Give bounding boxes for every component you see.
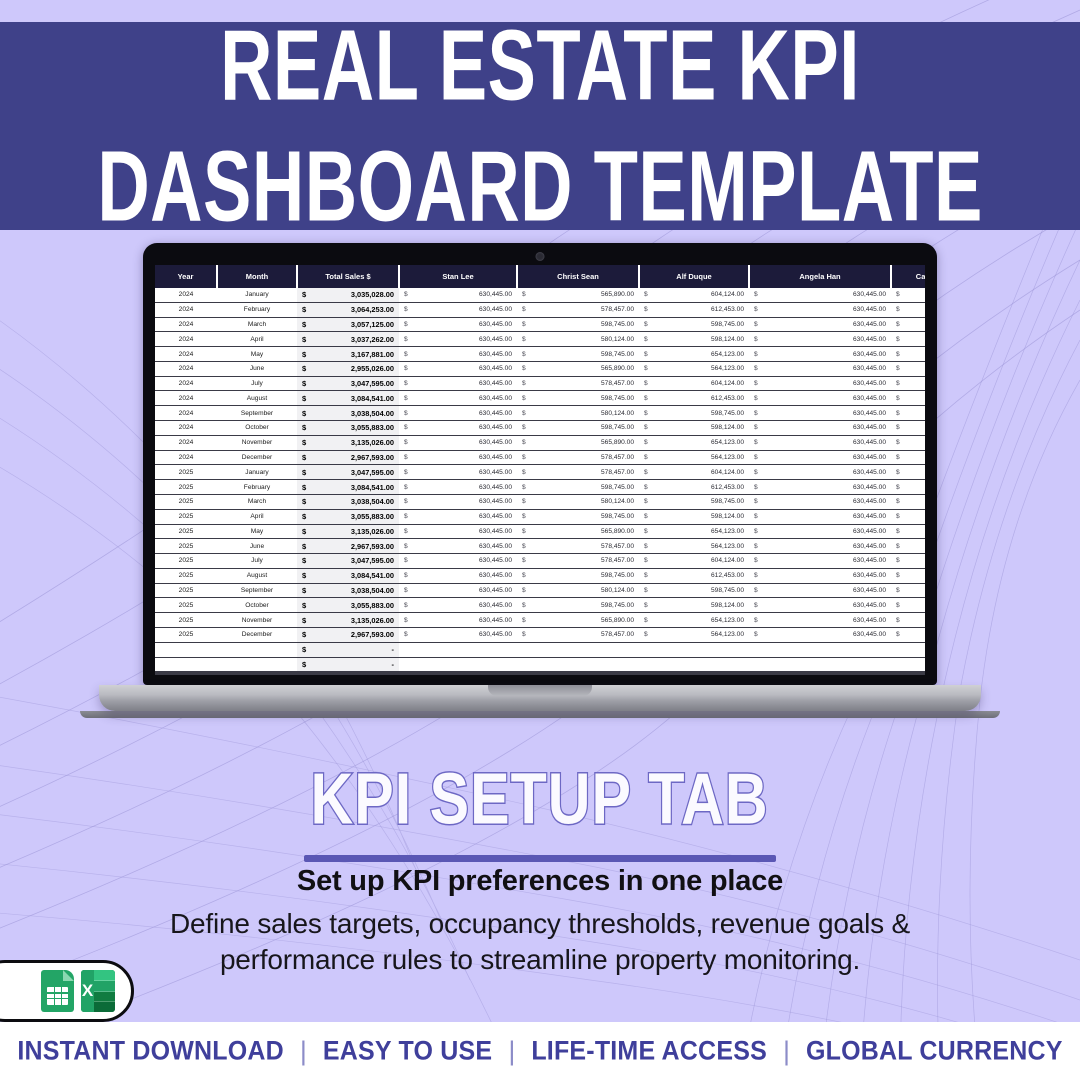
cell-christ-sean[interactable]: $580,124.00 [517, 494, 639, 509]
cell-carez[interactable] [891, 642, 925, 657]
cell-angela-han[interactable]: $630,445.00 [749, 361, 891, 376]
cell-month[interactable]: May [217, 347, 297, 362]
table-row[interactable]: 2025April$3,055,883.00$630,445.00$598,74… [155, 509, 925, 524]
cell-christ-sean[interactable]: $580,124.00 [517, 406, 639, 421]
table-row[interactable]: 2025September$3,038,504.00$630,445.00$58… [155, 583, 925, 598]
footer-separator-2: | [508, 1036, 515, 1067]
app-compatibility-badge: X [0, 960, 134, 1022]
cell-total-sales[interactable]: $3,135,026.00 [297, 435, 399, 450]
table-row[interactable]: 2025October$3,055,883.00$630,445.00$598,… [155, 598, 925, 613]
table-header-row: Year Month Total Sales $ Stan Lee Christ… [155, 265, 925, 288]
cell-stan-lee[interactable]: $630,445.00 [399, 302, 517, 317]
cell-carez[interactable]: $ [891, 583, 925, 598]
sheets-grid-glyph [47, 987, 68, 1005]
cell-carez[interactable]: $ [891, 421, 925, 436]
cell-carez[interactable]: $ [891, 361, 925, 376]
cell-stan-lee[interactable]: $630,445.00 [399, 288, 517, 302]
table-row[interactable]: 2024December$2,967,593.00$630,445.00$578… [155, 450, 925, 465]
cell-christ-sean[interactable]: $578,457.00 [517, 554, 639, 569]
cell-month[interactable]: April [217, 509, 297, 524]
cell-alf-duque[interactable]: $598,124.00 [639, 509, 749, 524]
cell-month[interactable]: November [217, 613, 297, 628]
cell-carez[interactable]: $ [891, 539, 925, 554]
microsoft-excel-icon: X [81, 970, 115, 1012]
cell-total-sales[interactable]: $3,055,883.00 [297, 421, 399, 436]
table-row[interactable]: 2024July$3,047,595.00$630,445.00$578,457… [155, 376, 925, 391]
laptop-notch [488, 685, 592, 696]
cell-stan-lee[interactable] [399, 642, 517, 657]
cell-angela-han[interactable]: $630,445.00 [749, 509, 891, 524]
cell-angela-han[interactable]: $630,445.00 [749, 583, 891, 598]
cell-year[interactable]: 2024 [155, 288, 217, 302]
cell-carez[interactable]: $ [891, 288, 925, 302]
laptop-mockup: Year Month Total Sales $ Stan Lee Christ… [143, 243, 937, 718]
footer-bar: INSTANT DOWNLOAD | EASY TO USE | LIFE-TI… [0, 1022, 1080, 1080]
cell-christ-sean[interactable]: $598,745.00 [517, 480, 639, 495]
cell-total-sales[interactable]: $3,047,595.00 [297, 376, 399, 391]
cell-christ-sean[interactable]: $565,890.00 [517, 361, 639, 376]
cell-alf-duque[interactable]: $612,453.00 [639, 302, 749, 317]
cell-angela-han[interactable]: $630,445.00 [749, 627, 891, 642]
cell-year[interactable]: 2025 [155, 598, 217, 613]
cell-total-sales[interactable]: $3,047,595.00 [297, 554, 399, 569]
cell-carez[interactable]: $ [891, 568, 925, 583]
cell-stan-lee[interactable]: $630,445.00 [399, 450, 517, 465]
cell-year[interactable]: 2025 [155, 554, 217, 569]
cell-angela-han[interactable]: $630,445.00 [749, 391, 891, 406]
cell-total-sales[interactable]: $3,135,026.00 [297, 613, 399, 628]
cell-total-sales[interactable]: $- [297, 657, 399, 672]
cell-year[interactable]: 2025 [155, 494, 217, 509]
cell-total-sales[interactable]: $3,038,504.00 [297, 406, 399, 421]
webcam-icon [536, 252, 545, 261]
cell-month[interactable]: December [217, 450, 297, 465]
cell-carez[interactable]: $ [891, 480, 925, 495]
cell-year[interactable]: 2024 [155, 435, 217, 450]
cell-alf-duque[interactable]: $598,124.00 [639, 332, 749, 347]
cell-carez[interactable]: $ [891, 347, 925, 362]
cell-angela-han[interactable]: $630,445.00 [749, 465, 891, 480]
cell-total-sales[interactable]: $3,035,028.00 [297, 288, 399, 302]
cell-carez[interactable]: $ [891, 554, 925, 569]
cell-christ-sean[interactable]: $565,890.00 [517, 524, 639, 539]
cell-stan-lee[interactable]: $630,445.00 [399, 465, 517, 480]
cell-year[interactable] [155, 657, 217, 672]
cell-alf-duque[interactable]: $598,124.00 [639, 598, 749, 613]
cell-stan-lee[interactable]: $630,445.00 [399, 391, 517, 406]
cell-year[interactable]: 2024 [155, 347, 217, 362]
cell-carez[interactable]: $ [891, 376, 925, 391]
table-row[interactable]: 2025November$3,135,026.00$630,445.00$565… [155, 613, 925, 628]
cell-alf-duque[interactable]: $564,123.00 [639, 627, 749, 642]
cell-angela-han[interactable]: $630,445.00 [749, 450, 891, 465]
cell-total-sales[interactable]: $2,955,026.00 [297, 361, 399, 376]
cell-month[interactable]: March [217, 494, 297, 509]
cell-carez[interactable]: $ [891, 302, 925, 317]
table-row[interactable]: 2024March$3,057,125.00$630,445.00$598,74… [155, 317, 925, 332]
cell-total-sales[interactable]: $3,167,881.00 [297, 347, 399, 362]
cell-alf-duque[interactable] [639, 657, 749, 672]
cell-carez[interactable] [891, 657, 925, 672]
table-row[interactable]: 2024February$3,064,253.00$630,445.00$578… [155, 302, 925, 317]
cell-month[interactable]: March [217, 317, 297, 332]
cell-carez[interactable]: $ [891, 509, 925, 524]
cell-year[interactable]: 2024 [155, 302, 217, 317]
cell-carez[interactable]: $ [891, 598, 925, 613]
cell-stan-lee[interactable]: $630,445.00 [399, 361, 517, 376]
column-header-total-sales[interactable]: Total Sales $ [297, 265, 399, 288]
cell-christ-sean[interactable]: $578,457.00 [517, 302, 639, 317]
column-header-stan-lee[interactable]: Stan Lee [399, 265, 517, 288]
cell-stan-lee[interactable]: $630,445.00 [399, 627, 517, 642]
feature-title-underline [304, 855, 776, 862]
cell-angela-han[interactable]: $630,445.00 [749, 347, 891, 362]
laptop-lid: Year Month Total Sales $ Stan Lee Christ… [143, 243, 937, 685]
cell-christ-sean[interactable]: $580,124.00 [517, 332, 639, 347]
cell-month[interactable] [217, 642, 297, 657]
header-banner: REAL ESTATE KPI DASHBOARD TEMPLATE [0, 22, 1080, 230]
cell-christ-sean[interactable]: $578,457.00 [517, 539, 639, 554]
cell-alf-duque[interactable]: $604,124.00 [639, 288, 749, 302]
cell-christ-sean[interactable]: $598,745.00 [517, 317, 639, 332]
cell-christ-sean[interactable]: $565,890.00 [517, 613, 639, 628]
cell-month[interactable]: January [217, 288, 297, 302]
cell-alf-duque[interactable]: $604,124.00 [639, 554, 749, 569]
excel-bars [94, 970, 115, 1012]
cell-alf-duque[interactable]: $598,124.00 [639, 421, 749, 436]
cell-angela-han[interactable]: $630,445.00 [749, 598, 891, 613]
cell-total-sales[interactable]: $3,055,883.00 [297, 509, 399, 524]
table-row[interactable]: 2024April$3,037,262.00$630,445.00$580,12… [155, 332, 925, 347]
spreadsheet-table[interactable]: Year Month Total Sales $ Stan Lee Christ… [155, 265, 925, 672]
cell-christ-sean[interactable]: $565,890.00 [517, 435, 639, 450]
cell-angela-han[interactable]: $630,445.00 [749, 302, 891, 317]
cell-stan-lee[interactable]: $630,445.00 [399, 524, 517, 539]
cell-christ-sean[interactable]: $565,890.00 [517, 288, 639, 302]
cell-stan-lee[interactable]: $630,445.00 [399, 406, 517, 421]
cell-angela-han[interactable]: $630,445.00 [749, 568, 891, 583]
feature-description: Define sales targets, occupancy threshol… [0, 906, 1080, 979]
footer-separator-1: | [300, 1036, 307, 1067]
cell-alf-duque[interactable]: $598,745.00 [639, 494, 749, 509]
cell-stan-lee[interactable]: $630,445.00 [399, 554, 517, 569]
cell-total-sales[interactable]: $3,135,026.00 [297, 524, 399, 539]
cell-month[interactable]: May [217, 524, 297, 539]
footer-item-global-currency: GLOBAL CURRENCY [790, 1035, 1079, 1066]
cell-christ-sean[interactable]: $598,745.00 [517, 347, 639, 362]
cell-year[interactable]: 2024 [155, 332, 217, 347]
cell-alf-duque[interactable]: $612,453.00 [639, 480, 749, 495]
cell-carez[interactable]: $ [891, 332, 925, 347]
cell-alf-duque[interactable]: $564,123.00 [639, 539, 749, 554]
cell-total-sales[interactable]: $3,084,541.00 [297, 480, 399, 495]
table-row[interactable]: 2025March$3,038,504.00$630,445.00$580,12… [155, 494, 925, 509]
footer-separator-3: | [783, 1036, 790, 1067]
cell-year[interactable]: 2025 [155, 509, 217, 524]
column-header-alf-duque[interactable]: Alf Duque [639, 265, 749, 288]
feature-title: KPI SETUP TAB [311, 758, 769, 841]
cell-month[interactable]: April [217, 332, 297, 347]
sheet-bottom-bar [155, 672, 925, 675]
column-header-month[interactable]: Month [217, 265, 297, 288]
cell-stan-lee[interactable] [399, 657, 517, 672]
cell-carez[interactable]: $ [891, 406, 925, 421]
cell-total-sales[interactable]: $2,967,593.00 [297, 539, 399, 554]
cell-christ-sean[interactable]: $578,457.00 [517, 376, 639, 391]
cell-christ-sean[interactable]: $598,745.00 [517, 391, 639, 406]
cell-year[interactable]: 2024 [155, 421, 217, 436]
cell-year[interactable]: 2025 [155, 465, 217, 480]
cell-carez[interactable]: $ [891, 391, 925, 406]
cell-month[interactable]: August [217, 391, 297, 406]
cell-angela-han[interactable]: $630,445.00 [749, 539, 891, 554]
table-row[interactable]: 2025December$2,967,593.00$630,445.00$578… [155, 627, 925, 642]
cell-month[interactable]: September [217, 406, 297, 421]
cell-angela-han[interactable]: $630,445.00 [749, 421, 891, 436]
cell-alf-duque[interactable]: $564,123.00 [639, 450, 749, 465]
cell-angela-han[interactable]: $630,445.00 [749, 376, 891, 391]
cell-total-sales[interactable]: $2,967,593.00 [297, 450, 399, 465]
cell-stan-lee[interactable]: $630,445.00 [399, 480, 517, 495]
footer-item-easy-to-use: EASY TO USE [307, 1035, 508, 1066]
cell-stan-lee[interactable]: $630,445.00 [399, 494, 517, 509]
cell-stan-lee[interactable]: $630,445.00 [399, 332, 517, 347]
cell-month[interactable]: January [217, 465, 297, 480]
cell-alf-duque[interactable]: $598,745.00 [639, 406, 749, 421]
column-header-christ-sean[interactable]: Christ Sean [517, 265, 639, 288]
cell-alf-duque[interactable] [639, 642, 749, 657]
cell-month[interactable]: February [217, 302, 297, 317]
cell-year[interactable] [155, 642, 217, 657]
cell-total-sales[interactable]: $3,055,883.00 [297, 598, 399, 613]
table-row-blank[interactable]: $- [155, 657, 925, 672]
cell-stan-lee[interactable]: $630,445.00 [399, 598, 517, 613]
cell-angela-han[interactable] [749, 657, 891, 672]
cell-alf-duque[interactable]: $654,123.00 [639, 524, 749, 539]
cell-alf-duque[interactable]: $654,123.00 [639, 435, 749, 450]
table-row[interactable]: 2025May$3,135,026.00$630,445.00$565,890.… [155, 524, 925, 539]
cell-alf-duque[interactable]: $604,124.00 [639, 376, 749, 391]
cell-year[interactable]: 2025 [155, 480, 217, 495]
cell-christ-sean[interactable]: $598,745.00 [517, 568, 639, 583]
cell-year[interactable]: 2024 [155, 450, 217, 465]
cell-carez[interactable]: $ [891, 317, 925, 332]
cell-year[interactable]: 2024 [155, 406, 217, 421]
cell-month[interactable]: June [217, 361, 297, 376]
table-row[interactable]: 2025July$3,047,595.00$630,445.00$578,457… [155, 554, 925, 569]
table-row[interactable]: 2024October$3,055,883.00$630,445.00$598,… [155, 421, 925, 436]
cell-year[interactable]: 2024 [155, 361, 217, 376]
feature-subtitle: Set up KPI preferences in one place [0, 865, 1080, 898]
cell-carez[interactable]: $ [891, 435, 925, 450]
cell-alf-duque[interactable]: $604,124.00 [639, 465, 749, 480]
table-row[interactable]: 2024May$3,167,881.00$630,445.00$598,745.… [155, 347, 925, 362]
feature-description-line-2: performance rules to streamline property… [0, 942, 1080, 978]
cell-christ-sean[interactable]: $578,457.00 [517, 450, 639, 465]
feature-description-line-1: Define sales targets, occupancy threshol… [0, 906, 1080, 942]
page-title-line-1: REAL ESTATE KPI [220, 18, 860, 114]
cell-stan-lee[interactable]: $630,445.00 [399, 435, 517, 450]
cell-month[interactable]: February [217, 480, 297, 495]
cell-month[interactable]: July [217, 376, 297, 391]
feature-title-block: KPI SETUP TAB [0, 766, 1080, 862]
cell-alf-duque[interactable]: $598,745.00 [639, 317, 749, 332]
cell-month[interactable]: December [217, 627, 297, 642]
cell-stan-lee[interactable]: $630,445.00 [399, 376, 517, 391]
cell-carez[interactable]: $ [891, 627, 925, 642]
cell-alf-duque[interactable]: $612,453.00 [639, 568, 749, 583]
cell-year[interactable]: 2024 [155, 391, 217, 406]
cell-year[interactable]: 2025 [155, 583, 217, 598]
cell-month[interactable]: July [217, 554, 297, 569]
cell-christ-sean[interactable]: $580,124.00 [517, 583, 639, 598]
cell-year[interactable]: 2024 [155, 376, 217, 391]
cell-alf-duque[interactable]: $654,123.00 [639, 347, 749, 362]
cell-year[interactable]: 2025 [155, 539, 217, 554]
table-row[interactable]: 2024November$3,135,026.00$630,445.00$565… [155, 435, 925, 450]
cell-christ-sean[interactable]: $598,745.00 [517, 421, 639, 436]
cell-total-sales[interactable]: $3,084,541.00 [297, 391, 399, 406]
cell-alf-duque[interactable]: $654,123.00 [639, 613, 749, 628]
cell-angela-han[interactable]: $630,445.00 [749, 524, 891, 539]
cell-carez[interactable]: $ [891, 450, 925, 465]
cell-total-sales[interactable]: $3,038,504.00 [297, 583, 399, 598]
google-sheets-icon [41, 970, 74, 1012]
table-row[interactable]: 2025January$3,047,595.00$630,445.00$578,… [155, 465, 925, 480]
table-row[interactable]: 2025August$3,084,541.00$630,445.00$598,7… [155, 568, 925, 583]
table-row-blank[interactable]: $- [155, 642, 925, 657]
cell-alf-duque[interactable]: $612,453.00 [639, 391, 749, 406]
cell-total-sales[interactable]: $3,064,253.00 [297, 302, 399, 317]
cell-angela-han[interactable]: $630,445.00 [749, 554, 891, 569]
laptop-screen: Year Month Total Sales $ Stan Lee Christ… [155, 265, 925, 675]
cell-month[interactable]: October [217, 598, 297, 613]
cell-angela-han[interactable]: $630,445.00 [749, 288, 891, 302]
cell-stan-lee[interactable]: $630,445.00 [399, 509, 517, 524]
cell-total-sales[interactable]: $3,057,125.00 [297, 317, 399, 332]
cell-stan-lee[interactable]: $630,445.00 [399, 421, 517, 436]
cell-month[interactable]: June [217, 539, 297, 554]
cell-stan-lee[interactable]: $630,445.00 [399, 347, 517, 362]
page-title-line-2: DASHBOARD TEMPLATE [97, 139, 983, 235]
cell-month[interactable]: November [217, 435, 297, 450]
cell-stan-lee[interactable]: $630,445.00 [399, 539, 517, 554]
cell-angela-han[interactable]: $630,445.00 [749, 494, 891, 509]
cell-total-sales[interactable]: $3,084,541.00 [297, 568, 399, 583]
footer-item-life-time-access: LIFE-TIME ACCESS [515, 1035, 783, 1066]
cell-year[interactable]: 2025 [155, 568, 217, 583]
cell-christ-sean[interactable] [517, 657, 639, 672]
table-row[interactable]: 2025February$3,084,541.00$630,445.00$598… [155, 480, 925, 495]
cell-total-sales[interactable]: $3,047,595.00 [297, 465, 399, 480]
cell-christ-sean[interactable]: $578,457.00 [517, 465, 639, 480]
cell-month[interactable]: August [217, 568, 297, 583]
cell-total-sales[interactable]: $- [297, 642, 399, 657]
cell-year[interactable]: 2024 [155, 317, 217, 332]
column-header-year[interactable]: Year [155, 265, 217, 288]
cell-christ-sean[interactable]: $598,745.00 [517, 598, 639, 613]
laptop-foot [80, 711, 1000, 718]
column-header-angela-han[interactable]: Angela Han [749, 265, 891, 288]
cell-angela-han[interactable]: $630,445.00 [749, 613, 891, 628]
cell-christ-sean[interactable]: $578,457.00 [517, 627, 639, 642]
cell-carez[interactable]: $ [891, 613, 925, 628]
table-body: 2024January$3,035,028.00$630,445.00$565,… [155, 288, 925, 672]
cell-angela-han[interactable]: $630,445.00 [749, 435, 891, 450]
cell-christ-sean[interactable] [517, 642, 639, 657]
table-row[interactable]: 2024January$3,035,028.00$630,445.00$565,… [155, 288, 925, 302]
cell-total-sales[interactable]: $3,037,262.00 [297, 332, 399, 347]
cell-christ-sean[interactable]: $598,745.00 [517, 509, 639, 524]
cell-angela-han[interactable]: $630,445.00 [749, 406, 891, 421]
cell-year[interactable]: 2025 [155, 524, 217, 539]
cell-carez[interactable]: $ [891, 494, 925, 509]
table-row[interactable]: 2024June$2,955,026.00$630,445.00$565,890… [155, 361, 925, 376]
cell-stan-lee[interactable]: $630,445.00 [399, 317, 517, 332]
laptop-base [99, 685, 981, 711]
footer-item-instant-download: INSTANT DOWNLOAD [1, 1035, 300, 1066]
cell-total-sales[interactable]: $3,038,504.00 [297, 494, 399, 509]
table-row[interactable]: 2024September$3,038,504.00$630,445.00$58… [155, 406, 925, 421]
cell-carez[interactable]: $ [891, 524, 925, 539]
cell-month[interactable] [217, 657, 297, 672]
column-header-carez[interactable]: Carez [891, 265, 925, 288]
cell-alf-duque[interactable]: $598,745.00 [639, 583, 749, 598]
cell-angela-han[interactable]: $630,445.00 [749, 480, 891, 495]
cell-stan-lee[interactable]: $630,445.00 [399, 613, 517, 628]
cell-stan-lee[interactable]: $630,445.00 [399, 583, 517, 598]
table-row[interactable]: 2025June$2,967,593.00$630,445.00$578,457… [155, 539, 925, 554]
cell-carez[interactable]: $ [891, 465, 925, 480]
cell-month[interactable]: September [217, 583, 297, 598]
cell-month[interactable]: October [217, 421, 297, 436]
cell-year[interactable]: 2025 [155, 627, 217, 642]
cell-total-sales[interactable]: $2,967,593.00 [297, 627, 399, 642]
cell-angela-han[interactable] [749, 642, 891, 657]
table-row[interactable]: 2024August$3,084,541.00$630,445.00$598,7… [155, 391, 925, 406]
cell-angela-han[interactable]: $630,445.00 [749, 317, 891, 332]
excel-letter: X [81, 970, 94, 1012]
cell-year[interactable]: 2025 [155, 613, 217, 628]
cell-angela-han[interactable]: $630,445.00 [749, 332, 891, 347]
cell-stan-lee[interactable]: $630,445.00 [399, 568, 517, 583]
cell-alf-duque[interactable]: $564,123.00 [639, 361, 749, 376]
